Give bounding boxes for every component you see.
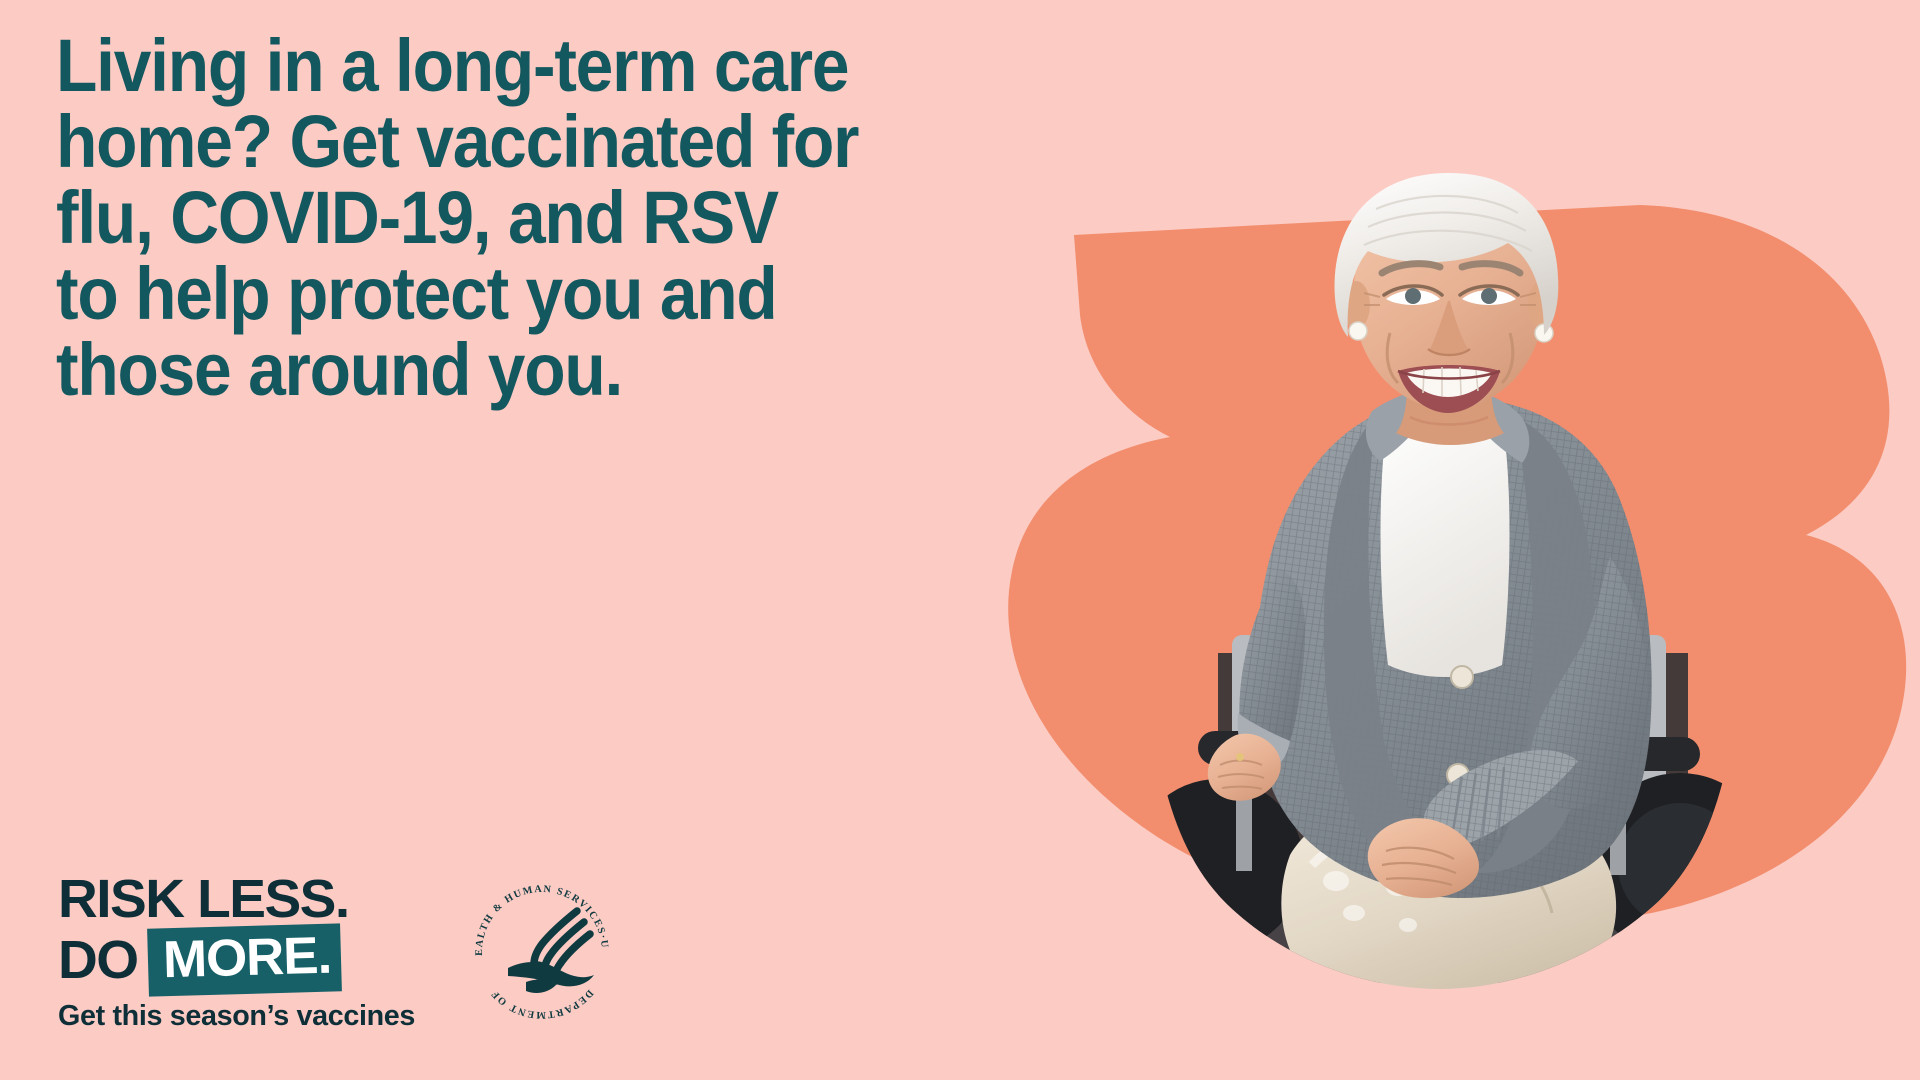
headline-line-5: those around you. — [56, 332, 971, 408]
senior-woman-in-wheelchair-photo — [1140, 165, 1760, 995]
risk-less-do-more-logo: RISK LESS. DO MORE. Get this season’s va… — [58, 872, 478, 1057]
logo-more-highlight-box: MORE. — [147, 923, 342, 996]
seal-eagle-wing — [508, 962, 594, 993]
logo-line-risk-less: RISK LESS. — [58, 872, 486, 927]
headline-line-4: to help protect you and — [56, 256, 971, 332]
headline-line-2: home? Get vaccinated for — [56, 104, 971, 180]
logo-word-more: MORE. — [162, 929, 331, 988]
logo-tagline: Get this season’s vaccines — [58, 1000, 474, 1033]
page-title: Living in a long-term care home? Get vac… — [56, 28, 1056, 408]
logo-line-do-more: DO MORE. — [58, 929, 478, 991]
vaccination-campaign-ad: Living in a long-term care home? Get vac… — [0, 0, 1920, 1080]
headline-line-1: Living in a long-term care — [56, 28, 971, 104]
headline-line-3: flu, COVID-19, and RSV — [56, 180, 971, 256]
logo-word-do: DO — [58, 929, 138, 991]
hhs-seal: HEALTH & HUMAN SERVICES·USA DEPARTMENT O… — [466, 876, 618, 1028]
